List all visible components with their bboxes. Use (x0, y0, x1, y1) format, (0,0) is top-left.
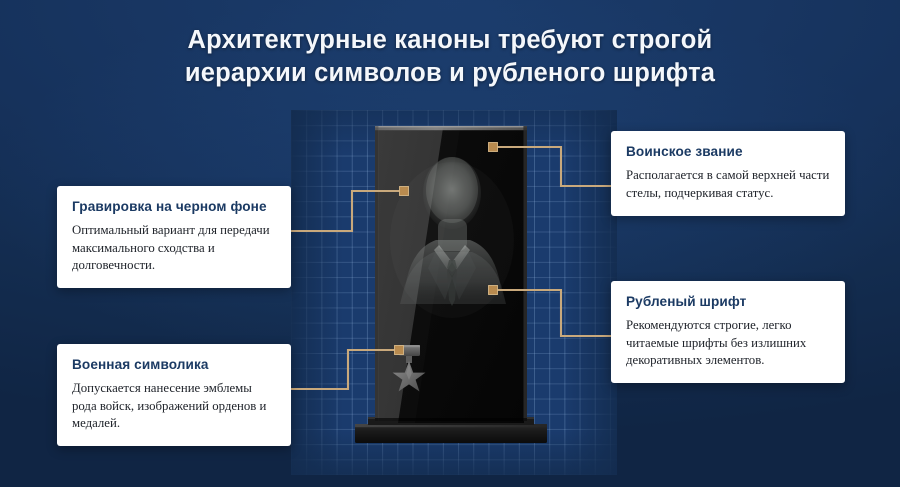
callout-body-rank: Располагается в самой верхней части стел… (626, 167, 830, 202)
connector-rank (493, 147, 611, 186)
callout-body-font: Рекомендуются строгие, легко читаемые шр… (626, 317, 830, 369)
connector-engraving (291, 191, 404, 231)
slide-canvas: Архитектурные каноны требуют строгой иер… (0, 0, 900, 487)
connector-font (493, 290, 611, 336)
marker-engraving (400, 187, 409, 196)
marker-rank (489, 143, 498, 152)
callout-card-rank[interactable]: Воинское звание Располагается в самой ве… (611, 131, 845, 216)
callout-body-symbols: Допускается нанесение эмблемы рода войск… (72, 380, 276, 432)
connector-symbols (291, 350, 399, 389)
callout-card-engraving[interactable]: Гравировка на черном фоне Оптимальный ва… (57, 186, 291, 288)
callout-heading-font: Рубленый шрифт (626, 294, 830, 310)
marker-font (489, 286, 498, 295)
page-title-line-1: Архитектурные каноны требуют строгой (188, 26, 713, 54)
marker-symbols (395, 346, 404, 355)
callout-heading-symbols: Военная символика (72, 357, 276, 373)
page-title: Архитектурные каноны требуют строгой иер… (0, 24, 900, 90)
callout-card-font[interactable]: Рубленый шрифт Рекомендуются строгие, ле… (611, 281, 845, 383)
callout-heading-engraving: Гравировка на черном фоне (72, 199, 276, 215)
callout-body-engraving: Оптимальный вариант для передачи максима… (72, 222, 276, 274)
callout-heading-rank: Воинское звание (626, 144, 830, 160)
callout-card-symbols[interactable]: Военная символика Допускается нанесение … (57, 344, 291, 446)
page-title-line-2: иерархии символов и рубленого шрифта (0, 57, 900, 90)
